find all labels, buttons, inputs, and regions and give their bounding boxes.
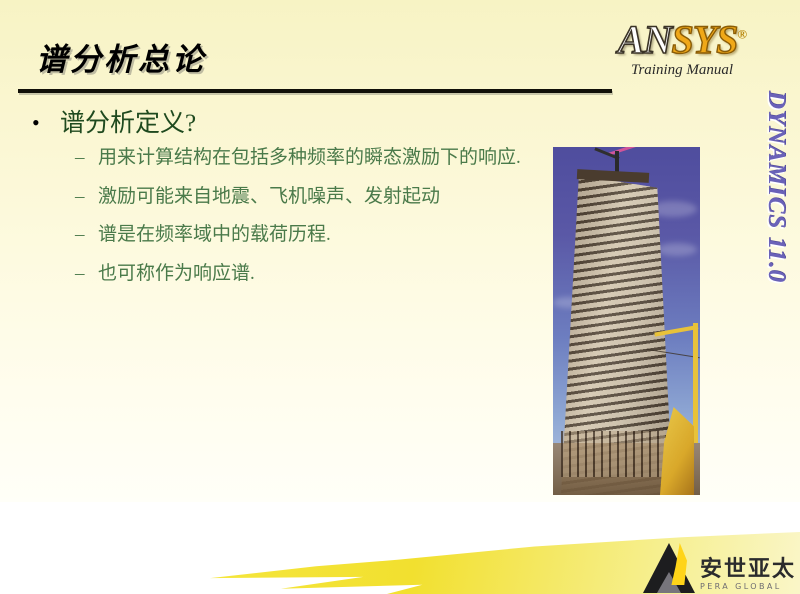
bullet-level2-text: 用来计算结构在包括多种频率的瞬态激励下的响应. — [98, 147, 521, 168]
dash-marker-icon: – — [75, 222, 85, 247]
ansys-wordmark: ANSYS® — [592, 20, 772, 60]
pera-logo-english: PERA GLOBAL — [700, 583, 796, 591]
pera-logo-text: 安世亚太 PERA GLOBAL — [700, 559, 796, 593]
page-title: 谱分析总论 — [36, 34, 206, 79]
bullet-level2: – 也可称作为响应谱. — [18, 261, 538, 286]
pera-triangle-flame-icon — [643, 543, 695, 593]
sub-bullet-list: – 用来计算结构在包括多种频率的瞬态激励下的响应. – 激励可能来自地震、飞机噪… — [18, 145, 538, 286]
pera-global-logo: 安世亚太 PERA GLOBAL — [643, 543, 796, 593]
photo-scaffolding — [561, 431, 665, 477]
bullet-level2: – 激励可能来自地震、飞机噪声、发射起动 — [18, 184, 538, 209]
dash-marker-icon: – — [75, 145, 85, 170]
bullet-level1-text: 谱分析定义? — [60, 110, 196, 137]
construction-building-photo — [553, 147, 700, 495]
ansys-logo-subtitle: Training Manual — [592, 62, 772, 79]
bullet-level1: • 谱分析定义? — [18, 108, 538, 139]
bullet-level2: – 用来计算结构在包括多种频率的瞬态激励下的响应. — [18, 145, 538, 170]
photo-right-crane-mast — [693, 323, 698, 443]
bullet-level2: – 谱是在频率域中的载荷历程. — [18, 222, 538, 247]
pera-logo-chinese: 安世亚太 — [700, 559, 796, 581]
ansys-logo: ANSYS® Training Manual — [592, 20, 772, 79]
ansys-logo-sys: SYS — [671, 17, 737, 62]
registered-trademark-icon: ® — [737, 27, 746, 42]
bullet-level2-text: 谱是在频率域中的载荷历程. — [98, 224, 331, 245]
course-version-label: DYNAMICS 11.0 — [762, 91, 790, 281]
bullet-level2-text: 激励可能来自地震、飞机噪声、发射起动 — [98, 186, 440, 207]
slide-body: • 谱分析定义? – 用来计算结构在包括多种频率的瞬态激励下的响应. – 激励可… — [18, 108, 538, 299]
dash-marker-icon: – — [75, 261, 85, 286]
bullet-marker-icon: • — [32, 108, 40, 138]
dash-marker-icon: – — [75, 184, 85, 209]
title-divider — [18, 89, 612, 93]
photo-cloud — [657, 243, 697, 256]
bullet-level2-text: 也可称作为响应谱. — [98, 263, 255, 284]
presentation-slide: 谱分析总论 ANSYS® Training Manual DYNAMICS 11… — [0, 0, 800, 594]
ansys-logo-an: AN — [618, 17, 672, 62]
